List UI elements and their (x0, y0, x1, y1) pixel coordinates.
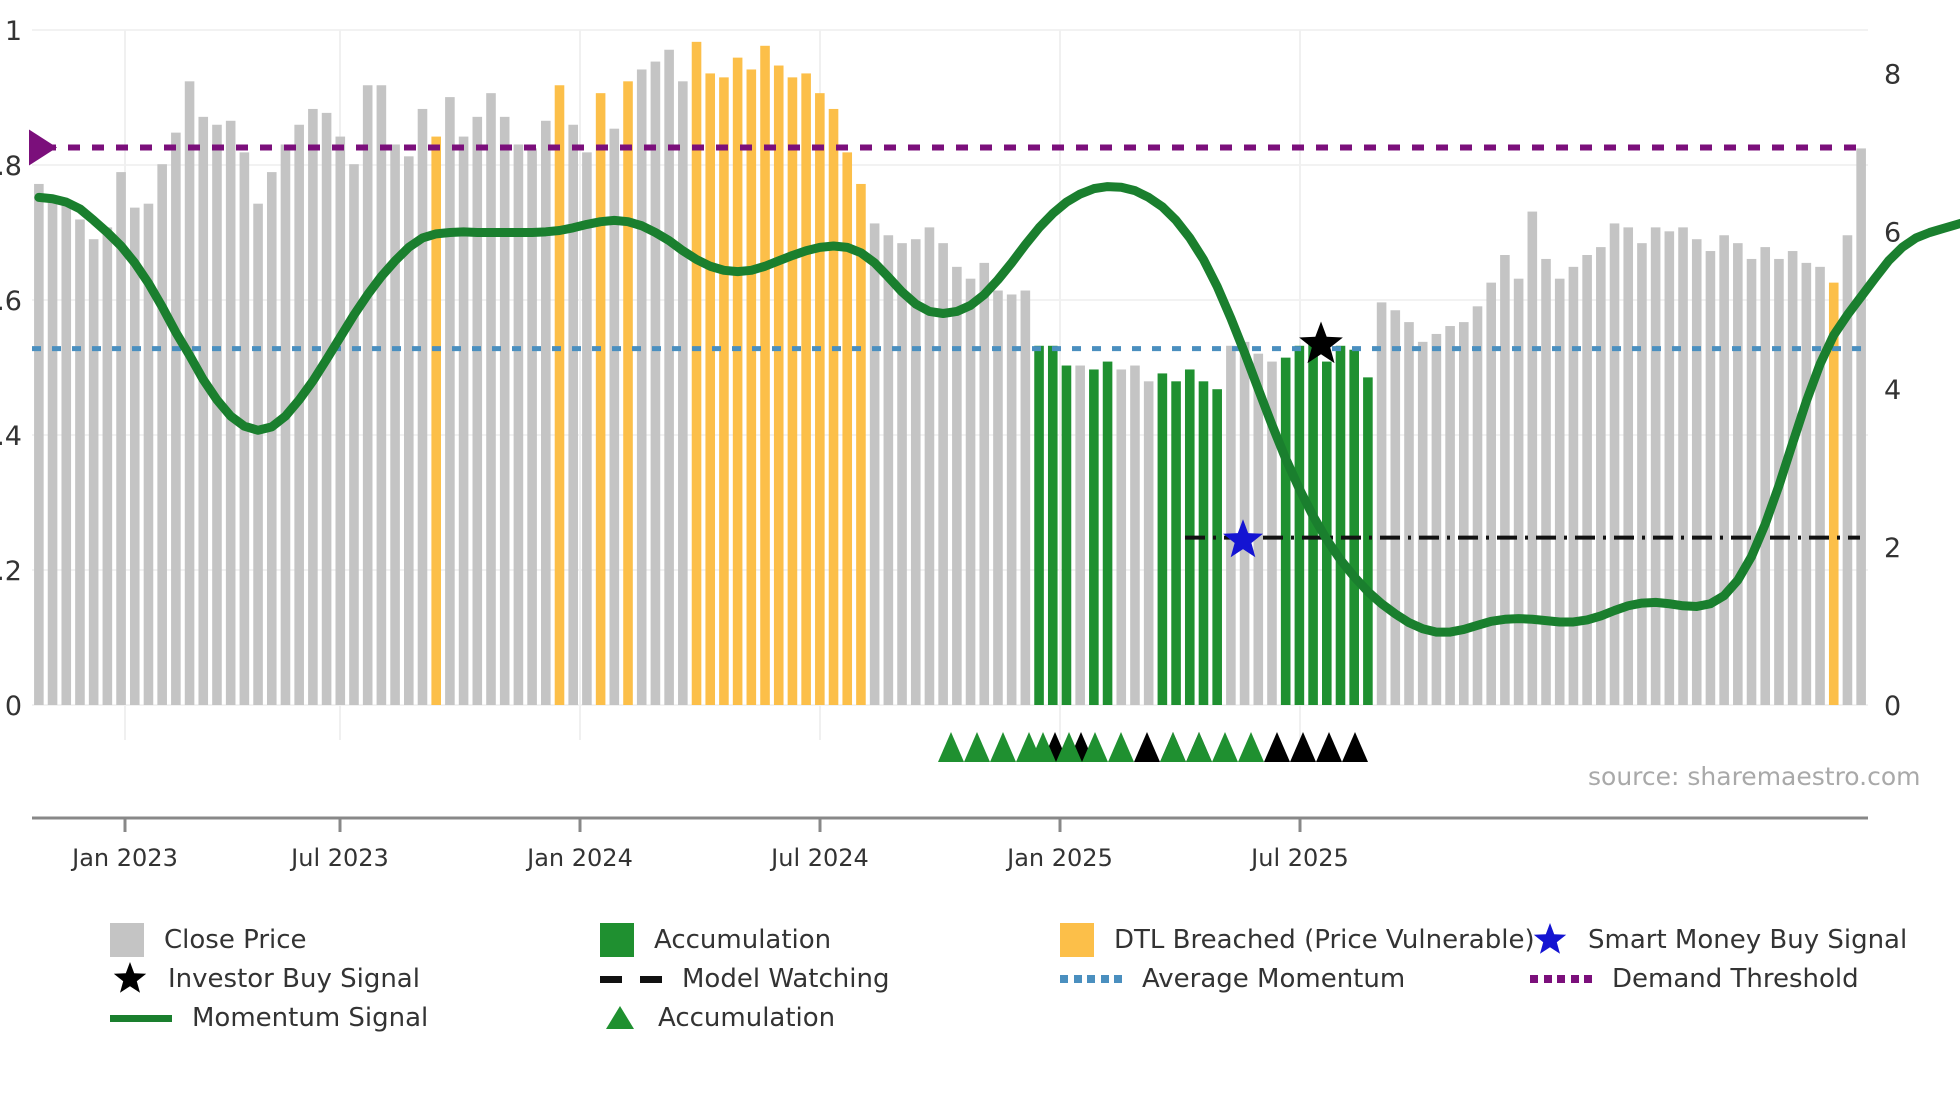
price-bar (61, 201, 71, 705)
left-axis-tick-label: 0.2 (0, 556, 22, 587)
legend-label: Demand Threshold (1612, 964, 1859, 994)
price-bar (1555, 279, 1565, 705)
price-bar (1116, 369, 1126, 705)
price-bar (1171, 381, 1181, 705)
price-bar (870, 223, 880, 705)
price-bar (157, 164, 167, 705)
price-bar (1445, 326, 1455, 705)
price-bar (925, 227, 935, 705)
square-swatch-icon (600, 923, 634, 957)
accumulation-triangle (1238, 732, 1264, 762)
price-bar (1637, 243, 1647, 705)
price-bar (1089, 369, 1099, 705)
price-bar (404, 156, 414, 705)
price-bar (1623, 227, 1633, 705)
price-bar (747, 69, 757, 705)
legend-item[interactable]: Accumulation (600, 998, 835, 1038)
price-bar (719, 77, 729, 705)
left-axis-tick-label: 1 (5, 16, 22, 47)
price-bar (1048, 346, 1058, 705)
legend-label: Model Watching (682, 964, 889, 994)
left-axis-tick-label: 0 (5, 691, 22, 722)
accumulation-triangle (1108, 732, 1134, 762)
price-bar (1500, 255, 1510, 705)
price-bar (322, 113, 332, 705)
price-bar (1569, 267, 1579, 705)
accumulation-triangle-dark (1264, 732, 1290, 762)
price-bar (1130, 366, 1140, 705)
price-bar (1377, 302, 1387, 705)
price-bar (418, 109, 428, 705)
price-bar (1582, 255, 1592, 705)
price-bar (1391, 310, 1401, 705)
price-bar (678, 81, 688, 705)
price-bar (1651, 227, 1661, 705)
price-bar (363, 85, 373, 705)
left-axis-tick-label: 0.4 (0, 421, 22, 452)
accumulation-triangle-dark (1290, 732, 1316, 762)
x-axis-tick-label: Jul 2024 (769, 844, 869, 872)
legend-label: Average Momentum (1142, 964, 1405, 994)
price-bar (993, 291, 1003, 705)
price-bar (1596, 247, 1606, 705)
price-bar (486, 93, 496, 705)
legend-item[interactable]: Model Watching (600, 959, 889, 999)
triangle-up-icon (600, 1000, 640, 1036)
accumulation-triangle-dark (1342, 732, 1368, 762)
price-bar (377, 85, 387, 705)
price-bar (788, 77, 798, 705)
price-bar (1281, 358, 1291, 705)
right-axis-tick-label: 6 (1884, 217, 1901, 248)
price-bar (459, 137, 469, 705)
price-bar (1815, 267, 1825, 705)
x-axis-tick-label: Jul 2023 (289, 844, 389, 872)
price-bar (281, 144, 291, 705)
left-axis-tick-label: 0.8 (0, 151, 22, 182)
price-bar (1760, 247, 1770, 705)
x-axis-tick-label: Jul 2025 (1249, 844, 1349, 872)
accumulation-triangle-dark (1134, 732, 1160, 762)
accumulation-triangle (1186, 732, 1212, 762)
price-bar (966, 279, 976, 705)
right-axis-tick-label: 2 (1884, 533, 1901, 564)
square-swatch-icon (1060, 923, 1094, 957)
dotted-line-icon (1060, 974, 1122, 984)
price-bar (582, 152, 592, 705)
price-bar (1212, 389, 1222, 705)
accumulation-triangle-dark (1316, 732, 1342, 762)
price-bar (1062, 366, 1072, 705)
chart-root: 00.20.40.60.8102468Jan 2023Jul 2023Jan 2… (0, 0, 1960, 1102)
price-bar (48, 196, 58, 705)
price-bar (1404, 322, 1414, 705)
price-bar (541, 121, 551, 705)
legend-item[interactable]: DTL Breached (Price Vulnerable) (1060, 920, 1535, 960)
legend-item[interactable]: Momentum Signal (110, 998, 428, 1038)
price-bar (651, 62, 661, 705)
price-bar (856, 184, 866, 705)
price-bar (1034, 346, 1044, 705)
price-bar (1349, 350, 1359, 705)
price-bar (1486, 283, 1496, 705)
price-bar (212, 125, 222, 705)
legend-item[interactable]: Smart Money Buy Signal (1530, 920, 1907, 960)
price-bar (1719, 235, 1729, 705)
price-bar (171, 133, 181, 705)
price-bar (623, 81, 633, 705)
right-axis-tick-label: 4 (1884, 375, 1901, 406)
price-bar (692, 42, 702, 705)
price-bar (34, 184, 44, 705)
accumulation-triangle (990, 732, 1016, 762)
price-bar (335, 137, 345, 705)
accumulation-triangle (1160, 732, 1186, 762)
price-bar (1747, 259, 1757, 705)
price-bar (596, 93, 606, 705)
price-bar (555, 85, 565, 705)
legend-label: Investor Buy Signal (168, 964, 420, 994)
price-bar (1226, 346, 1236, 705)
x-axis-tick-label: Jan 2024 (525, 844, 633, 872)
price-bar (1678, 227, 1688, 705)
price-bar (610, 129, 620, 705)
price-bar (705, 73, 715, 705)
price-bar (1363, 377, 1373, 705)
price-bar (89, 239, 99, 705)
legend-label: Accumulation (654, 925, 831, 955)
price-bar (308, 109, 318, 705)
price-bar (1528, 212, 1538, 705)
price-bar (500, 117, 510, 705)
demand-threshold-marker (29, 129, 57, 165)
price-bar (801, 73, 811, 705)
price-bar (1802, 263, 1812, 705)
price-bar (473, 117, 483, 705)
solid-line-icon (110, 1015, 172, 1022)
price-bar (1459, 322, 1469, 705)
legend-item[interactable]: Demand Threshold (1530, 959, 1859, 999)
price-bar (733, 58, 743, 705)
price-bar (1733, 243, 1743, 705)
price-bar (1514, 279, 1524, 705)
price-bar (829, 109, 839, 705)
price-bar (267, 172, 277, 705)
accumulation-triangle (938, 732, 964, 762)
price-bar (103, 227, 113, 705)
x-axis-tick-label: Jan 2025 (1005, 844, 1113, 872)
legend-label: Smart Money Buy Signal (1588, 925, 1907, 955)
price-bar (1856, 148, 1866, 705)
accumulation-triangle (964, 732, 990, 762)
left-axis-tick-label: 0.6 (0, 286, 22, 317)
price-bar (1610, 223, 1620, 705)
price-bar (1665, 231, 1675, 705)
square-swatch-icon (110, 923, 144, 957)
price-bar (1240, 342, 1250, 705)
chart-legend: Close PriceAccumulationDTL Breached (Pri… (0, 920, 1960, 1070)
price-bar (1541, 259, 1551, 705)
price-bar (431, 137, 441, 705)
price-bar (774, 66, 784, 705)
price-bar (1295, 346, 1305, 705)
price-bar (1336, 346, 1346, 705)
accumulation-triangle (1212, 732, 1238, 762)
source-watermark: source: sharemaestro.com (1588, 762, 1921, 791)
price-bar (637, 69, 647, 705)
x-axis-tick-label: Jan 2023 (70, 844, 178, 872)
price-bar (1692, 239, 1702, 705)
star-icon (1530, 922, 1570, 958)
legend-item[interactable]: Accumulation (600, 920, 831, 960)
price-bar (1473, 306, 1483, 705)
price-bar (294, 125, 304, 705)
legend-label: Accumulation (658, 1003, 835, 1033)
price-bar (185, 81, 195, 705)
price-bar (1007, 294, 1017, 705)
price-bar (1199, 381, 1209, 705)
price-bar (842, 152, 852, 705)
star-icon (110, 961, 150, 997)
price-bar (1075, 366, 1085, 705)
price-bar (815, 93, 825, 705)
price-bar (198, 117, 208, 705)
price-bar (897, 243, 907, 705)
price-bar (1144, 381, 1154, 705)
price-bar (952, 267, 962, 705)
price-bar (1706, 251, 1716, 705)
price-bar (1158, 373, 1168, 705)
legend-item[interactable]: Close Price (110, 920, 307, 960)
price-bar (75, 219, 85, 705)
price-bar (1021, 291, 1031, 705)
price-bar (253, 204, 263, 705)
right-axis-tick-label: 0 (1884, 691, 1901, 722)
legend-label: DTL Breached (Price Vulnerable) (1114, 925, 1535, 955)
legend-item[interactable]: Average Momentum (1060, 959, 1405, 999)
price-bar (884, 235, 894, 705)
legend-label: Close Price (164, 925, 307, 955)
price-bar (1432, 334, 1442, 705)
price-bar (979, 263, 989, 705)
dotted-line-icon (1530, 974, 1592, 984)
legend-item[interactable]: Investor Buy Signal (110, 959, 420, 999)
price-bar (1788, 251, 1798, 705)
dashed-line-icon (600, 974, 662, 984)
price-bar (568, 125, 578, 705)
price-bar (130, 208, 140, 705)
legend-label: Momentum Signal (192, 1003, 428, 1033)
price-bar (390, 144, 400, 705)
price-bar (349, 164, 359, 705)
right-axis-tick-label: 8 (1884, 59, 1901, 90)
price-bar (1418, 342, 1428, 705)
price-bar (1103, 362, 1113, 705)
price-bar (445, 97, 455, 705)
